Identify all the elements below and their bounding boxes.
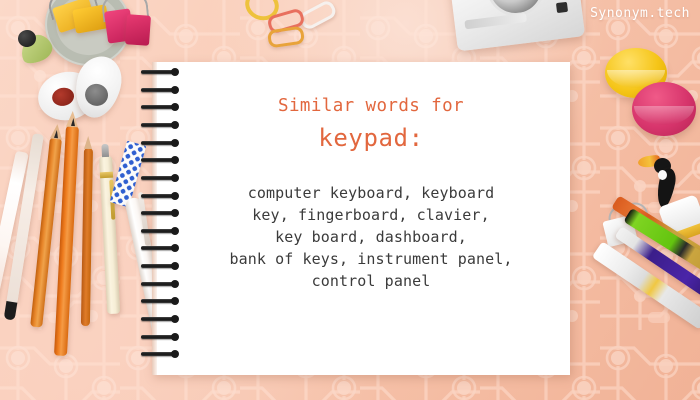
pencil-orange-1-lead: [54, 130, 59, 138]
stone-gray-center: [83, 81, 111, 108]
spiral-coil: [141, 299, 177, 303]
spiral-binding: [141, 68, 179, 368]
pencil-orange-2-lead: [71, 118, 75, 126]
spiral-coil: [141, 352, 177, 356]
toucan-belly: [658, 170, 667, 180]
card-title-word: keypad:: [318, 124, 423, 152]
synonyms-list: computer keyboard, keyboard key, fingerb…: [191, 182, 551, 292]
spiral-coil: [141, 264, 177, 268]
spiral-coil: [141, 211, 177, 215]
pen-cream-button: [101, 144, 109, 157]
site-logo[interactable]: Synonym.tech: [590, 6, 690, 21]
card-title-prefix: Similar words for: [278, 96, 464, 116]
spiral-coil: [141, 335, 177, 339]
pen-cream-band: [100, 172, 113, 179]
spiral-coil: [141, 317, 177, 321]
spiral-coil: [141, 158, 177, 162]
spiral-coil: [141, 246, 177, 250]
stone-red-center: [50, 86, 75, 108]
spiral-coil: [141, 282, 177, 286]
screenshot-root: Similar words for keypad: computer keybo…: [0, 0, 700, 400]
spiral-coil: [141, 105, 177, 109]
pencil-graphite-tip: [84, 136, 92, 149]
camera-shutter-button: [556, 2, 568, 13]
synonym-card: Similar words for keypad: computer keybo…: [182, 62, 560, 375]
spiral-coil: [141, 70, 177, 74]
spiral-coil: [141, 141, 177, 145]
spiral-coil: [141, 176, 177, 180]
spiral-coil: [141, 194, 177, 198]
spiral-coil: [141, 123, 177, 127]
spiral-coil: [141, 229, 177, 233]
binder-clip-pink-second: [125, 14, 151, 46]
camera-grip: [464, 13, 527, 29]
spiral-coil: [141, 88, 177, 92]
macaron-pink: [632, 82, 696, 136]
